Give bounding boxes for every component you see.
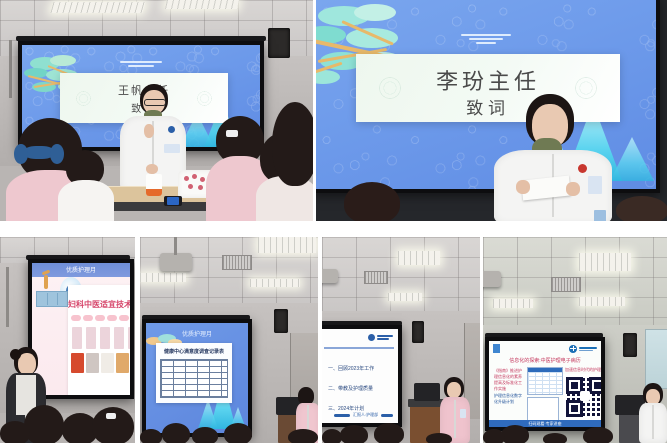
wall-speaker <box>412 321 424 343</box>
audience-person <box>483 429 505 443</box>
air-vent <box>551 277 581 292</box>
qr-center-logo <box>580 391 590 401</box>
deer-icon <box>44 275 48 289</box>
audience-person <box>288 429 318 443</box>
ceiling-lamp <box>579 253 631 271</box>
ceiling-lamp <box>493 299 533 308</box>
slide-title: 健康中心满意度调查记录表 <box>156 348 232 355</box>
hand <box>566 182 580 196</box>
audience-person <box>92 407 134 443</box>
audience-person <box>140 429 162 443</box>
tag-pill <box>119 315 129 321</box>
panel-top-left: 王帆主任 致词 <box>0 0 313 221</box>
mini-table <box>527 367 563 395</box>
id-badge <box>164 144 180 153</box>
hospital-logo-icon <box>578 164 587 173</box>
agenda-item: 二、带教及护理质量 <box>328 385 373 392</box>
slide-ornament <box>316 34 656 44</box>
tag-pill <box>107 315 117 321</box>
panel-bottom-4: 信息化的探索:中医护理电子病历 《指南》推进护理信息化的素养提高及标准化工作实施… <box>483 237 667 443</box>
ceiling-lamp <box>579 297 625 306</box>
slide-left-text: 《指南》推进护理信息化的素养提高及标准化工作实施 <box>494 368 524 392</box>
slide-ornament <box>22 61 260 67</box>
projected-slide-bottom-4: 信息化的探索:中医护理电子病历 《指南》推进护理信息化的素养提高及标准化工作实施… <box>489 341 601 427</box>
cabinet-icon <box>36 291 68 307</box>
thumbnail <box>101 353 114 373</box>
slide-footer: 汇报人:护理部 <box>334 412 393 418</box>
wall-speaker <box>268 28 290 58</box>
tag-pill <box>71 315 81 321</box>
white-coat <box>639 403 667 443</box>
text-line <box>86 327 96 349</box>
projector-mount <box>174 237 177 255</box>
hair-clip <box>226 130 238 137</box>
data-table <box>160 359 228 398</box>
air-vent <box>222 255 252 270</box>
audience-person <box>344 182 404 221</box>
air-vent <box>364 271 388 284</box>
text-line <box>100 327 110 349</box>
hair-bow <box>24 146 54 159</box>
audience-person <box>374 423 404 443</box>
tag-pill <box>83 315 93 321</box>
slide-divider <box>324 347 394 349</box>
slide-title: 李玢主任 <box>356 64 620 96</box>
text-line <box>128 327 130 349</box>
slide-content-panel: 妇科中医适宜技术 <box>68 285 130 395</box>
panel-bottom-3: 一、回顾2023年工作 二、带教及护理质量 三、2024年计划 汇报人:护理部 <box>322 237 480 443</box>
screen-cord <box>9 40 12 98</box>
hair-clip <box>106 413 116 419</box>
ceiling <box>322 237 480 315</box>
panel-bottom-1: 优质护理月 妇科中医适宜技术 <box>0 237 135 443</box>
projected-slide-bottom-3: 一、回顾2023年工作 二、带教及护理质量 三、2024年计划 汇报人:护理部 <box>322 329 398 423</box>
presenter-person <box>639 383 667 443</box>
audience-person <box>501 425 529 443</box>
mini-chart <box>527 397 559 421</box>
tag-pill <box>95 315 105 321</box>
thumbnail <box>116 353 129 373</box>
slide-title: 信息化的探索:中医护理电子病历 <box>489 357 601 364</box>
hair-bun <box>10 349 21 360</box>
id-badge <box>594 210 606 221</box>
audience-person <box>272 102 313 221</box>
smartphone[interactable] <box>164 196 182 206</box>
projection-screen: 信息化的探索:中医护理电子病历 《指南》推进护理信息化的素养提高及标准化工作实施… <box>485 337 605 431</box>
ceiling-lamp <box>388 293 422 301</box>
hospital-logo-icon <box>569 345 597 353</box>
audience-person <box>192 427 218 443</box>
wall-speaker <box>274 309 288 333</box>
id-badge <box>460 409 466 418</box>
ceiling-projector <box>160 253 192 271</box>
ceiling-projector <box>322 269 338 283</box>
projection-screen: 优质护理月 健康中心满意度调查记录表 <box>142 319 252 437</box>
audience-person <box>162 423 190 443</box>
hand <box>146 164 158 174</box>
ceiling-lamp <box>398 251 440 265</box>
tag-row <box>70 315 130 321</box>
window <box>645 329 667 389</box>
ceiling-lamp <box>50 2 145 13</box>
audience-person <box>340 425 368 443</box>
ceiling-lamp <box>140 273 186 282</box>
projection-screen: 一、回顾2023年工作 二、带教及护理质量 三、2024年计划 汇报人:护理部 <box>322 325 402 427</box>
wall-speaker <box>623 333 637 357</box>
hospital-logo-icon <box>368 334 393 341</box>
audience-person <box>543 433 567 443</box>
slide-title: 妇科中医适宜技术 <box>68 299 130 310</box>
qr-finder <box>566 400 583 417</box>
audience-person <box>224 423 252 443</box>
photo-collage: 王帆主任 致词 <box>0 0 667 443</box>
ceiling-lamp <box>250 279 300 287</box>
ceiling-tile-grid <box>322 237 480 315</box>
text-line <box>114 327 124 349</box>
coffee-cup <box>146 174 162 196</box>
qr-code[interactable] <box>563 374 601 420</box>
text-line <box>72 327 82 349</box>
slide-card: 健康中心满意度调查记录表 <box>156 343 232 403</box>
audience-person <box>58 150 112 221</box>
projected-slide-bottom-1: 优质护理月 妇科中医适宜技术 <box>32 263 130 395</box>
face <box>447 382 461 398</box>
agenda-item: 一、回顾2023年工作 <box>328 365 374 372</box>
slide-right-text: 加速信息时代的护理 <box>565 367 601 373</box>
id-badge <box>588 176 602 194</box>
audience-person <box>583 427 613 443</box>
agenda-item: 三、2024年计划 <box>328 405 364 412</box>
hand <box>516 180 530 194</box>
audience-person <box>616 196 667 221</box>
screen-cord <box>6 267 9 327</box>
audience-person <box>322 429 342 443</box>
eyeglasses <box>144 99 166 106</box>
hospital-logo-icon <box>168 126 175 133</box>
hand <box>144 124 154 138</box>
monitor <box>414 383 440 401</box>
speaker-person <box>494 94 614 221</box>
panel-top-right: 李玢主任 致词 <box>316 0 667 221</box>
projected-slide-bottom-2: 优质护理月 健康中心满意度调查记录表 <box>146 323 248 433</box>
ceiling-projector <box>483 271 501 287</box>
thumbnail <box>86 353 99 373</box>
slide-corner-mark <box>493 344 500 353</box>
thumbnail <box>71 353 84 373</box>
slide-left-text-2: 护理信息化数字化升级计划 <box>494 393 524 405</box>
audience-person <box>0 421 30 443</box>
panel-bottom-2: 优质护理月 健康中心满意度调查记录表 <box>140 237 318 443</box>
slide-footer-text: 汇报人:护理部 <box>353 412 378 418</box>
audience-person <box>24 405 64 443</box>
ceiling-lamp <box>258 237 316 253</box>
slide-header-row <box>493 344 597 353</box>
thumbnail-row <box>71 353 129 373</box>
ceiling-lamp <box>165 0 239 9</box>
qr-finder <box>589 377 601 394</box>
audience-person <box>426 433 452 443</box>
